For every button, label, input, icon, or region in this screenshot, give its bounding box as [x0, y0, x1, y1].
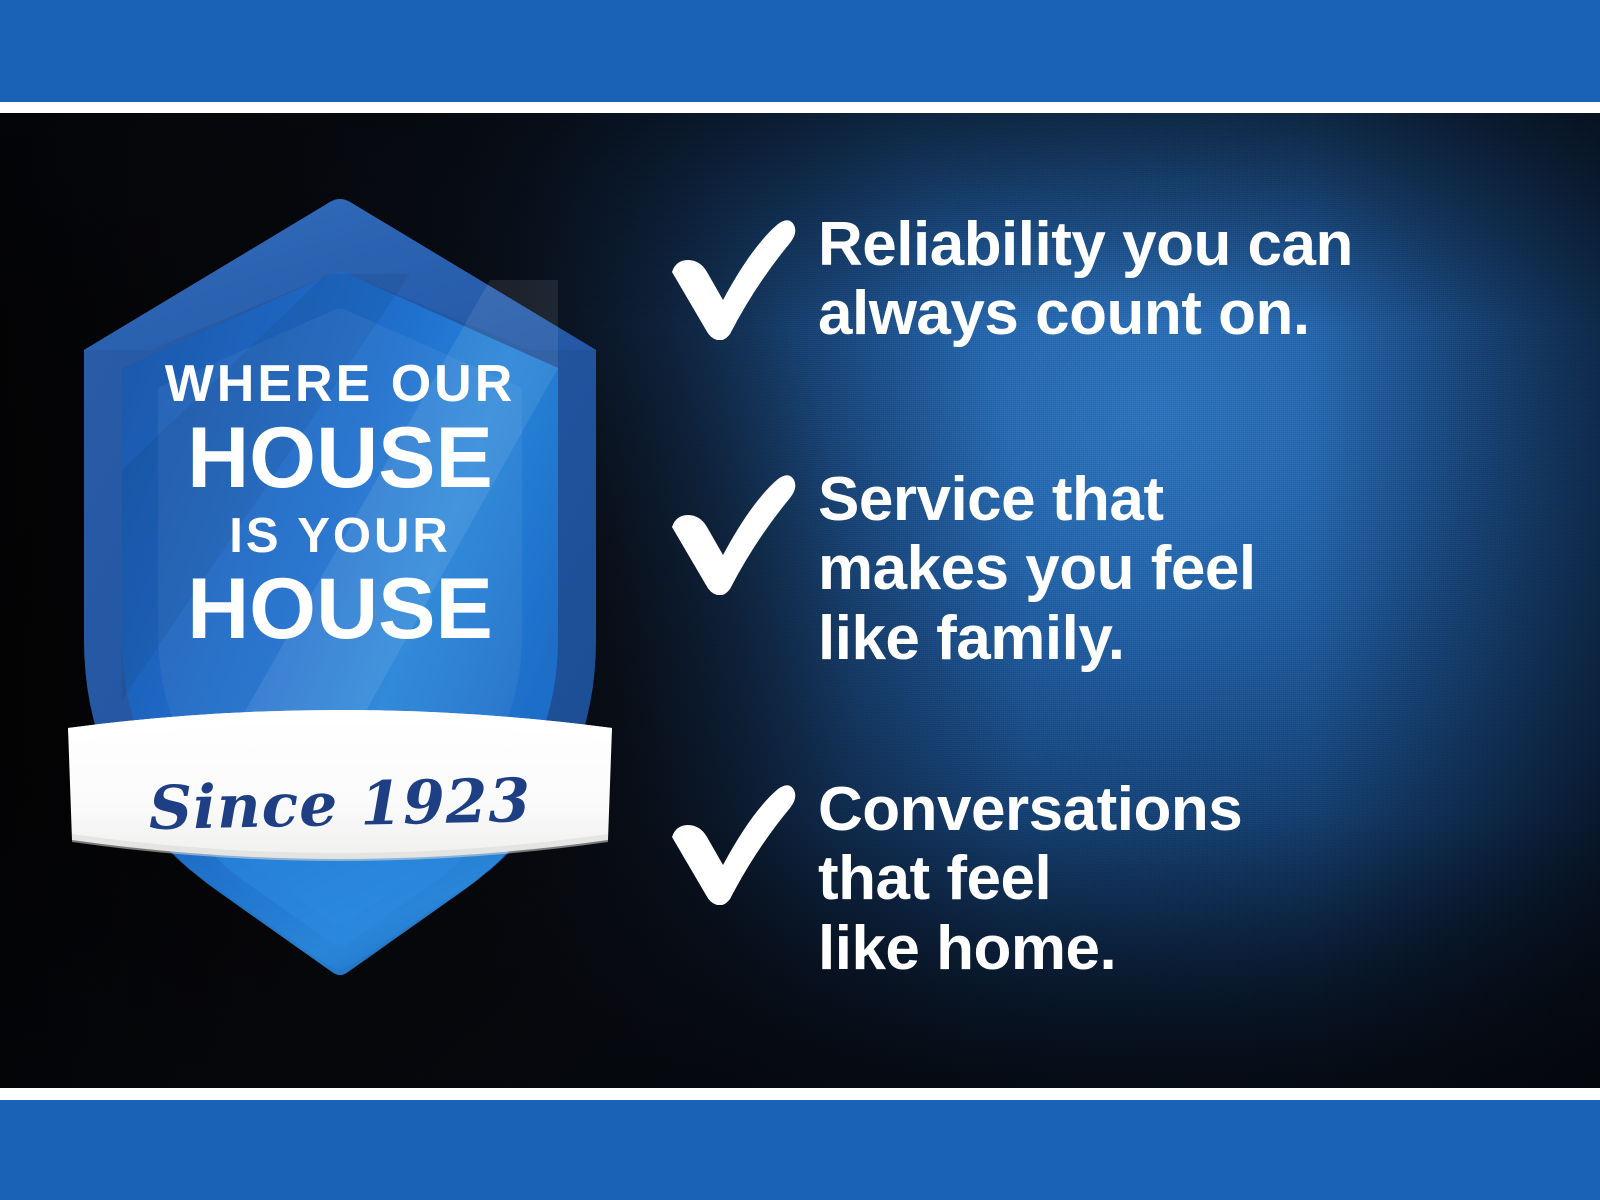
top-brand-bar	[0, 0, 1600, 102]
badge-tagline-line-1: WHERE OUR	[60, 358, 620, 410]
benefit-line: Conversations	[818, 775, 1242, 844]
benefit-text-conversations: Conversations that feel like home.	[818, 775, 1242, 983]
benefit-line: always count on.	[818, 279, 1353, 348]
check-icon	[660, 465, 800, 595]
benefit-line: Service that	[818, 465, 1256, 534]
benefit-line: makes you feel	[818, 534, 1256, 603]
benefit-item-conversations: Conversations that feel like home.	[660, 775, 1242, 983]
benefit-line: like home.	[818, 914, 1242, 983]
benefit-line: that feel	[818, 844, 1242, 913]
benefit-item-service: Service that makes you feel like family.	[660, 465, 1256, 673]
badge-tagline-line-3: IS YOUR	[60, 512, 620, 561]
benefit-text-service: Service that makes you feel like family.	[818, 465, 1256, 673]
badge-tagline-line-4: HOUSE	[60, 566, 620, 652]
shield-badge: WHERE OUR HOUSE IS YOUR HOUSE Since 1923	[60, 140, 620, 970]
benefit-text-reliability: Reliability you can always count on.	[818, 210, 1353, 349]
benefit-item-reliability: Reliability you can always count on.	[660, 210, 1353, 349]
bottom-brand-bar	[0, 1100, 1600, 1200]
benefit-line: Reliability you can	[818, 210, 1353, 279]
check-icon	[660, 210, 800, 340]
badge-tagline-line-2: HOUSE	[60, 415, 620, 501]
benefit-line: like family.	[818, 604, 1256, 673]
badge-ribbon-since-text: Since 1923	[59, 764, 620, 846]
promo-graphic: WHERE OUR HOUSE IS YOUR HOUSE Since 1923…	[0, 0, 1600, 1200]
check-icon	[660, 775, 800, 905]
